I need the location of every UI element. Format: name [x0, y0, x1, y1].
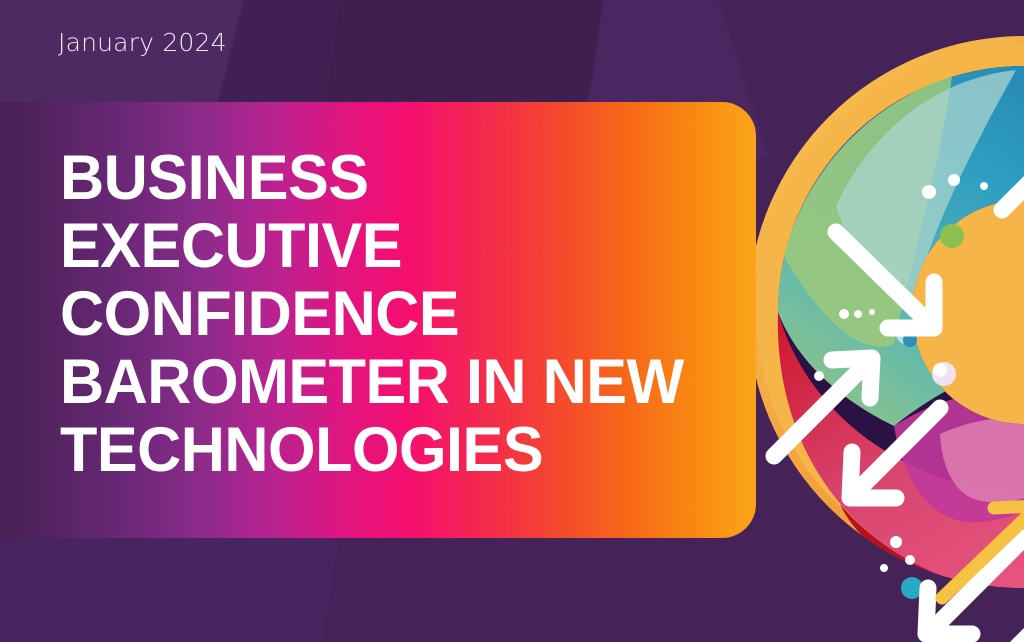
report-cover-poster: January 2024 BUSINESS EXECUTIVE CONFIDEN…	[0, 0, 1024, 642]
headline-line-4: BAROMETER IN NEW	[60, 348, 739, 416]
page-title: BUSINESS EXECUTIVE CONFIDENCE BAROMETER …	[60, 144, 760, 484]
headline-line-1: BUSINESS	[60, 144, 739, 212]
headline-line-3: CONFIDENCE	[60, 280, 739, 348]
headline-line-5: TECHNOLOGIES	[60, 416, 739, 484]
date-label: January 2024	[58, 28, 227, 57]
headline-line-2: EXECUTIVE	[60, 212, 739, 280]
donut-illustration	[744, 0, 1024, 642]
